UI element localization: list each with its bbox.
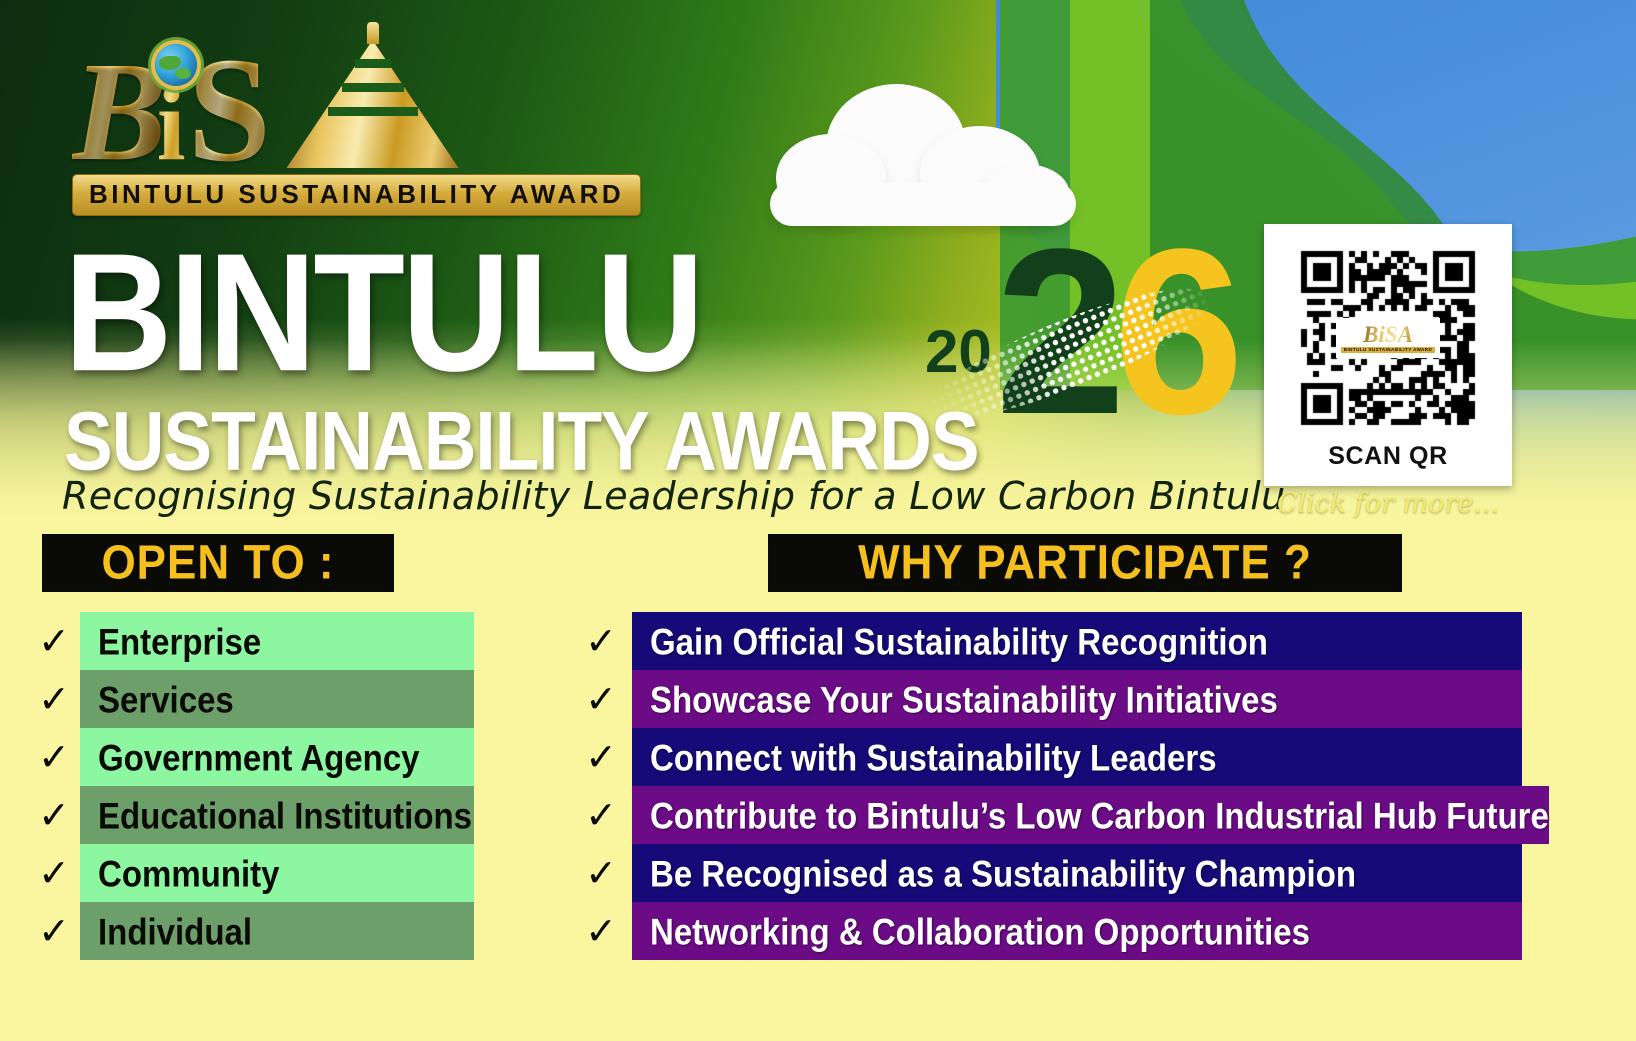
list-item-label: Educational Institutions <box>98 797 472 834</box>
list-item: ✓Government Agency <box>28 728 474 786</box>
qr-logo-banner: BINTULU SUSTAINABILITY AWARD <box>1341 347 1435 354</box>
list-item-label: Enterprise <box>98 623 261 660</box>
why-participate-row-bar: Gain Official Sustainability Recognition <box>632 612 1522 670</box>
page-subtitle: SUSTAINABILITY AWARDS <box>64 400 979 483</box>
bisa-logo-mark: B i S <box>72 22 672 172</box>
year-digit-6: 6 <box>1113 240 1244 424</box>
check-icon: ✓ <box>28 844 80 902</box>
list-item: ✓Networking & Collaboration Opportunitie… <box>570 902 1522 960</box>
section-header-open-to-label: OPEN TO : <box>101 536 334 591</box>
logo-letter-b: B <box>72 51 167 172</box>
list-item: ✓Educational Institutions <box>28 786 474 844</box>
open-to-row-bar: Enterprise <box>80 612 474 670</box>
list-item-label: Networking & Collaboration Opportunities <box>650 913 1310 950</box>
open-to-row-bar: Community <box>80 844 474 902</box>
list-item-label: Contribute to Bintulu’s Low Carbon Indus… <box>650 797 1549 834</box>
section-header-open-to: OPEN TO : <box>42 534 394 592</box>
why-participate-row-bar: Showcase Your Sustainability Initiatives <box>632 670 1522 728</box>
open-to-row-bar: Individual <box>80 902 474 960</box>
list-item-label: Be Recognised as a Sustainability Champi… <box>650 855 1356 892</box>
page-title: BINTULU <box>64 228 701 396</box>
tagline: Recognising Sustainability Leadership fo… <box>62 474 1286 518</box>
check-icon: ✓ <box>28 612 80 670</box>
bisa-logo: B i S BINTULU SUSTAINABILITY AWARD <box>72 22 672 212</box>
list-item: ✓Community <box>28 844 474 902</box>
poster-root: B i S BINTULU SUSTAINABILITY AWARD BINTU… <box>0 0 1636 1041</box>
logo-banner-text: BINTULU SUSTAINABILITY AWARD <box>89 179 624 209</box>
qr-embedded-logo: BiSA BINTULU SUSTAINABILITY AWARD <box>1336 318 1440 358</box>
qr-click-hint[interactable]: Click for more... <box>1264 488 1512 519</box>
why-participate-row-bar: Contribute to Bintulu’s Low Carbon Indus… <box>632 786 1549 844</box>
check-icon: ✓ <box>28 902 80 960</box>
check-icon: ✓ <box>570 728 632 786</box>
open-to-row-bar: Services <box>80 670 474 728</box>
open-to-row-bar: Government Agency <box>80 728 474 786</box>
section-header-why-participate-label: WHY PARTICIPATE ? <box>858 536 1312 591</box>
logo-letter-a-pyramid-icon <box>265 22 480 172</box>
check-icon: ✓ <box>28 728 80 786</box>
check-icon: ✓ <box>570 902 632 960</box>
qr-logo-mark: BiSA <box>1363 323 1413 346</box>
logo-letter-s: S <box>188 49 271 172</box>
list-item-label: Individual <box>98 913 252 950</box>
section-header-why-participate: WHY PARTICIPATE ? <box>768 534 1402 592</box>
check-icon: ✓ <box>570 786 632 844</box>
why-participate-list: ✓Gain Official Sustainability Recognitio… <box>570 612 1522 960</box>
list-item: ✓Enterprise <box>28 612 474 670</box>
globe-icon <box>155 44 197 86</box>
open-to-row-bar: Educational Institutions <box>80 786 474 844</box>
list-item: ✓Services <box>28 670 474 728</box>
list-item-label: Connect with Sustainability Leaders <box>650 739 1217 776</box>
why-participate-row-bar: Connect with Sustainability Leaders <box>632 728 1522 786</box>
year-digit-2: 2 <box>995 240 1126 424</box>
year-2026-graphic: 2 6 20 <box>915 232 1225 472</box>
check-icon: ✓ <box>570 844 632 902</box>
why-participate-row-bar: Networking & Collaboration Opportunities <box>632 902 1522 960</box>
list-item-label: Government Agency <box>98 739 420 776</box>
year-prefix-20: 20 <box>925 322 992 382</box>
logo-letter-i: i <box>157 78 186 172</box>
list-item: ✓Connect with Sustainability Leaders <box>570 728 1522 786</box>
why-participate-row-bar: Be Recognised as a Sustainability Champi… <box>632 844 1522 902</box>
list-item-label: Gain Official Sustainability Recognition <box>650 623 1268 660</box>
qr-caption: SCAN QR <box>1278 442 1498 471</box>
list-item: ✓Be Recognised as a Sustainability Champ… <box>570 844 1522 902</box>
list-item: ✓Contribute to Bintulu’s Low Carbon Indu… <box>570 786 1522 844</box>
list-item: ✓Showcase Your Sustainability Initiative… <box>570 670 1522 728</box>
list-item-label: Community <box>98 855 280 892</box>
list-item-label: Services <box>98 681 234 718</box>
list-item: ✓Individual <box>28 902 474 960</box>
list-item: ✓Gain Official Sustainability Recognitio… <box>570 612 1522 670</box>
check-icon: ✓ <box>28 670 80 728</box>
check-icon: ✓ <box>570 612 632 670</box>
open-to-list: ✓Enterprise✓Services✓Government Agency✓E… <box>28 612 474 960</box>
qr-code-card[interactable]: BiSA BINTULU SUSTAINABILITY AWARD SCAN Q… <box>1264 224 1512 486</box>
list-item-label: Showcase Your Sustainability Initiatives <box>650 681 1278 718</box>
check-icon: ✓ <box>28 786 80 844</box>
check-icon: ✓ <box>570 670 632 728</box>
qr-code-image[interactable]: BiSA BINTULU SUSTAINABILITY AWARD <box>1278 238 1498 438</box>
